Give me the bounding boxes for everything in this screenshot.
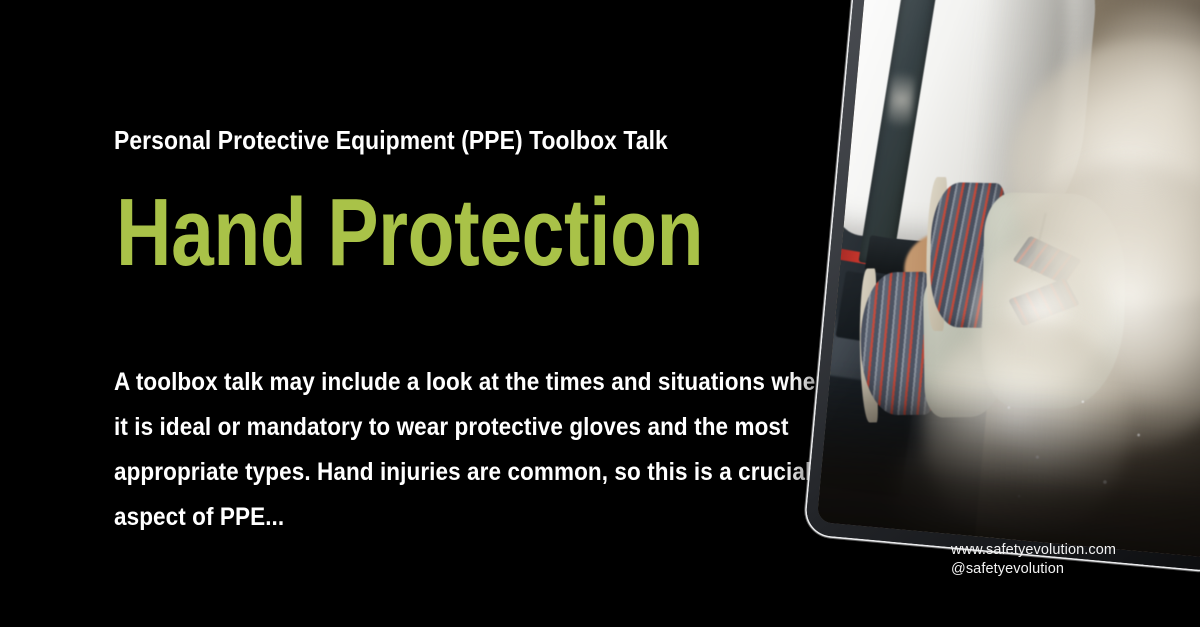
text-column: Personal Protective Equipment (PPE) Tool… [114, 0, 824, 627]
website-url[interactable]: www.safetyevolution.com [951, 541, 1116, 560]
worker-photo [817, 0, 1200, 558]
slide-canvas: Personal Protective Equipment (PPE) Tool… [0, 0, 1200, 627]
tablet-screen [817, 0, 1200, 558]
tablet-device [805, 0, 1200, 572]
body-paragraph: A toolbox talk may include a look at the… [114, 360, 843, 540]
footer-credits: www.safetyevolution.com @safetyevolution [951, 541, 1116, 579]
eyebrow-subtitle: Personal Protective Equipment (PPE) Tool… [114, 126, 668, 155]
social-handle[interactable]: @safetyevolution [951, 560, 1116, 579]
page-title: Hand Protection [116, 183, 703, 284]
tablet-bezel [805, 0, 1200, 572]
